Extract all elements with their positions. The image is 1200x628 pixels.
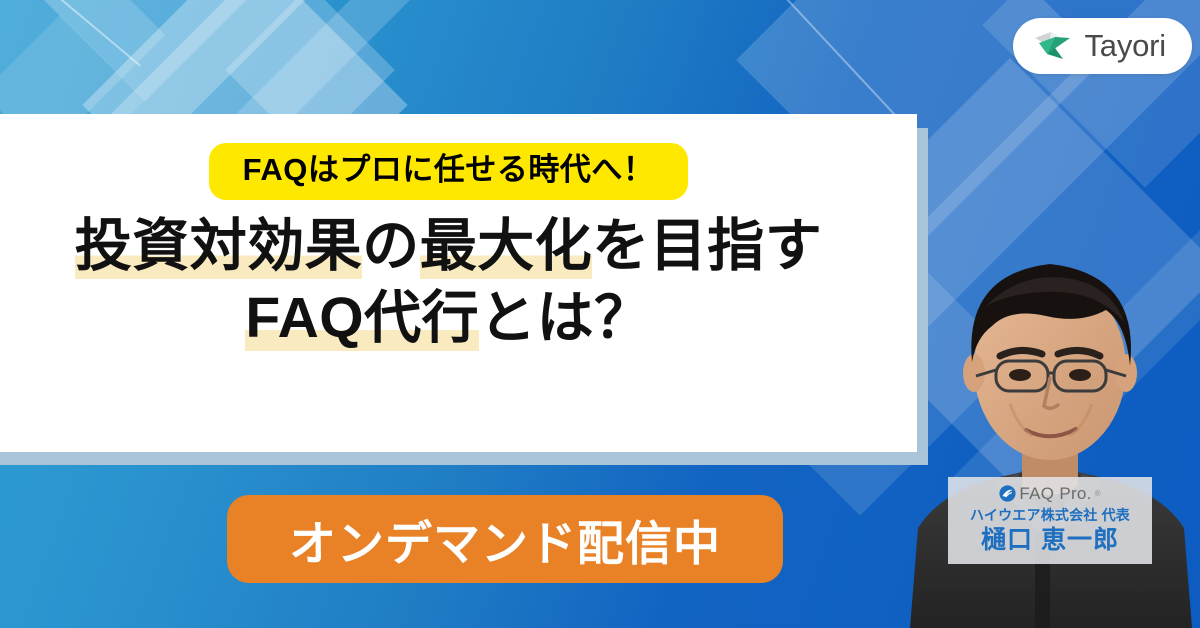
faq-pro-swoosh-icon [999, 485, 1016, 502]
tagline-badge: FAQはプロに任せる時代へ！ [209, 143, 689, 200]
registered-mark: ® [1095, 489, 1101, 498]
faq-pro-logo: FAQ Pro. ® [954, 484, 1146, 504]
headline-text-toha: とは？ [479, 286, 652, 350]
headline-line-2: FAQ代行とは？ [75, 285, 823, 351]
tayori-paper-plane-icon [1033, 29, 1073, 63]
webinar-banner: FAQはプロに任せる時代へ！ 投資対効果の最大化を目指す FAQ代行とは？ オン… [0, 0, 1200, 628]
headline-highlight-roi: 投資対効果 [75, 214, 363, 279]
headline-highlight-maximize: 最大化 [420, 214, 593, 279]
tayori-wordmark: Tayori [1085, 28, 1167, 64]
content-card: FAQはプロに任せる時代へ！ 投資対効果の最大化を目指す FAQ代行とは？ [0, 114, 917, 452]
tayori-logo[interactable]: Tayori [1013, 18, 1193, 74]
page-title: 投資対効果の最大化を目指す FAQ代行とは？ [75, 213, 823, 351]
speaker-nameplate: FAQ Pro. ® ハイウエア株式会社 代表 樋口 恵一郎 [948, 477, 1152, 565]
headline-text-aim: を目指す [592, 214, 822, 278]
speaker-company: ハイウエア株式会社 代表 [954, 507, 1146, 525]
headline-highlight-faq-daiko: FAQ代行 [245, 286, 479, 351]
on-demand-cta-button[interactable]: オンデマンド配信中 [227, 495, 783, 583]
faq-pro-wordmark: FAQ Pro. [1019, 484, 1091, 504]
headline-line-1: 投資対効果の最大化を目指す [75, 213, 823, 279]
headline-text-no: の [362, 214, 420, 278]
speaker-name: 樋口 恵一郎 [954, 525, 1146, 555]
